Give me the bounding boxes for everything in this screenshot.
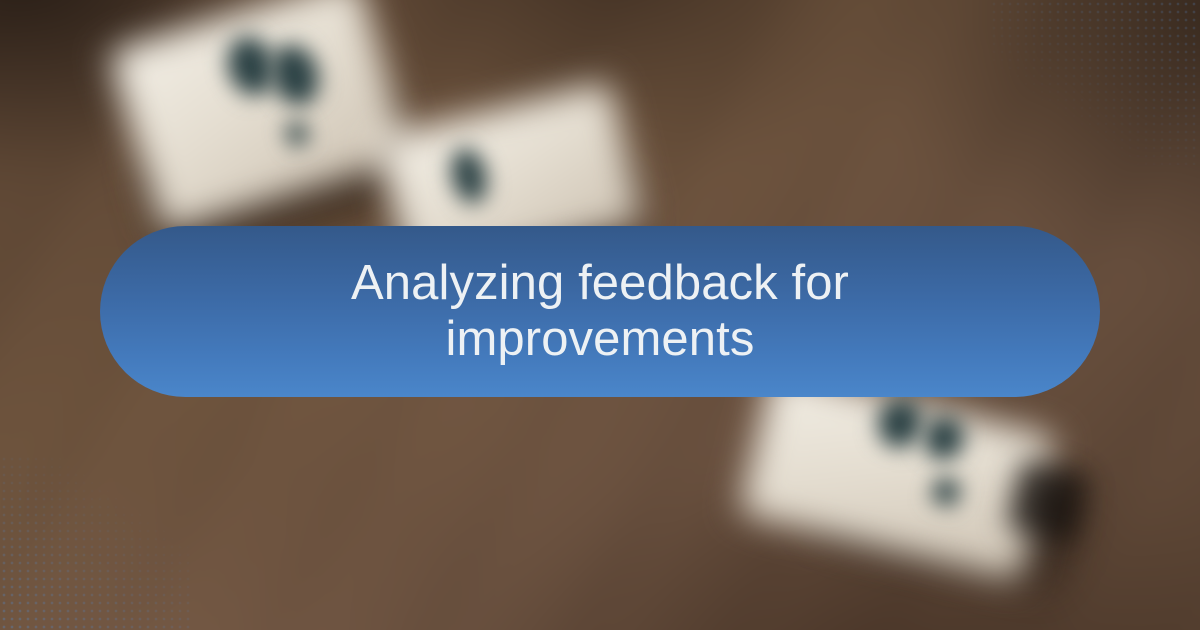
title-pill: Analyzing feedback for improvements xyxy=(100,226,1100,397)
page-title: Analyzing feedback for improvements xyxy=(320,256,880,367)
banner-canvas: Analyzing feedback for improvements xyxy=(0,0,1200,630)
